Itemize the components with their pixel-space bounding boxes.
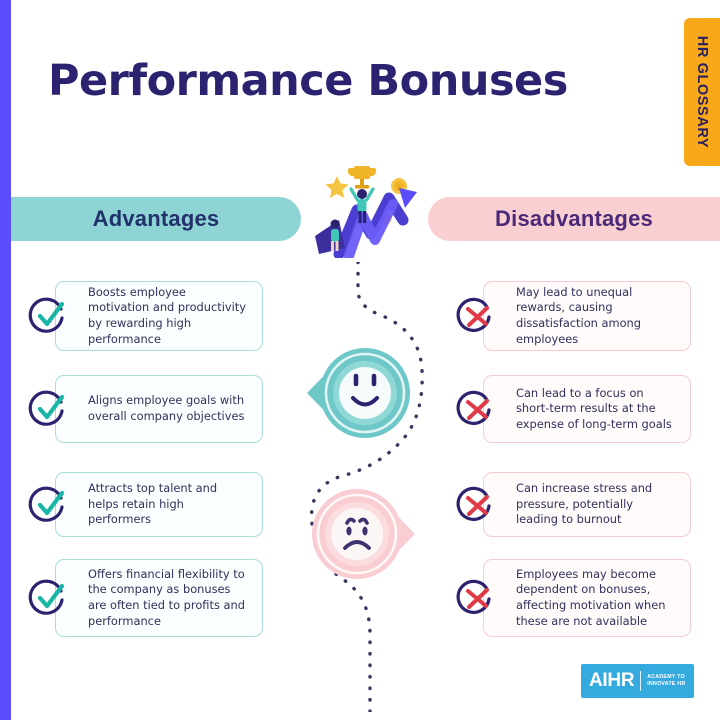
check-circle-icon	[28, 296, 68, 336]
advantage-card-text: Attracts top talent and helps retain hig…	[56, 469, 262, 540]
disadvantage-card-text: Employees may become dependent on bonuse…	[484, 555, 690, 641]
advantages-heading: Advantages	[93, 206, 220, 232]
page-title: Performance Bonuses	[48, 56, 568, 106]
aihr-logo[interactable]: AIHR ACADEMY TO INNOVATE HR	[581, 664, 694, 698]
advantage-card-text: Boosts employee motivation and productiv…	[56, 273, 262, 359]
disadvantage-card-text: Can increase stress and pressure, potent…	[484, 469, 690, 540]
check-circle-icon	[28, 485, 68, 525]
advantage-card[interactable]: Attracts top talent and helps retain hig…	[55, 472, 263, 537]
check-circle-icon	[28, 389, 68, 429]
disadvantage-card[interactable]: Employees may become dependent on bonuse…	[483, 559, 691, 637]
disadvantages-banner: Disadvantages	[428, 197, 720, 241]
hr-glossary-tab-label: HR GLOSSARY	[694, 36, 710, 148]
advantage-card[interactable]: Offers financial flexibility to the comp…	[55, 559, 263, 637]
cross-circle-icon	[456, 578, 496, 618]
advantages-banner: Advantages	[11, 197, 301, 241]
cross-circle-icon	[456, 296, 496, 336]
aihr-logo-tagline: ACADEMY TO INNOVATE HR	[647, 674, 685, 689]
infographic-canvas: HR GLOSSARY Performance Bonuses Advantag…	[0, 0, 720, 720]
disadvantage-card-text: Can lead to a focus on short-term result…	[484, 374, 690, 445]
hr-glossary-tab[interactable]: HR GLOSSARY	[684, 18, 720, 166]
advantage-card[interactable]: Aligns employee goals with overall compa…	[55, 375, 263, 443]
disadvantage-card[interactable]: May lead to unequal rewards, causing dis…	[483, 281, 691, 351]
disadvantage-card[interactable]: Can increase stress and pressure, potent…	[483, 472, 691, 537]
cross-circle-icon	[456, 389, 496, 429]
disadvantage-card[interactable]: Can lead to a focus on short-term result…	[483, 375, 691, 443]
advantage-card-text: Offers financial flexibility to the comp…	[56, 555, 262, 641]
happy-face-bubble	[303, 342, 415, 444]
aihr-logo-mark: AIHR	[589, 670, 634, 692]
aihr-logo-divider	[640, 671, 641, 691]
aihr-tagline-line-1: ACADEMY TO	[647, 674, 685, 680]
disadvantage-card-text: May lead to unequal rewards, causing dis…	[484, 273, 690, 359]
advantage-card[interactable]: Boosts employee motivation and productiv…	[55, 281, 263, 351]
left-accent-bar	[0, 0, 11, 720]
cross-circle-icon	[456, 485, 496, 525]
disadvantages-heading: Disadvantages	[495, 206, 653, 232]
growth-arrow-trophy-illustration: $	[305, 158, 425, 258]
aihr-tagline-line-2: INNOVATE HR	[647, 681, 685, 687]
check-circle-icon	[28, 578, 68, 618]
advantage-card-text: Aligns employee goals with overall compa…	[56, 381, 262, 436]
sad-face-bubble	[307, 483, 419, 585]
